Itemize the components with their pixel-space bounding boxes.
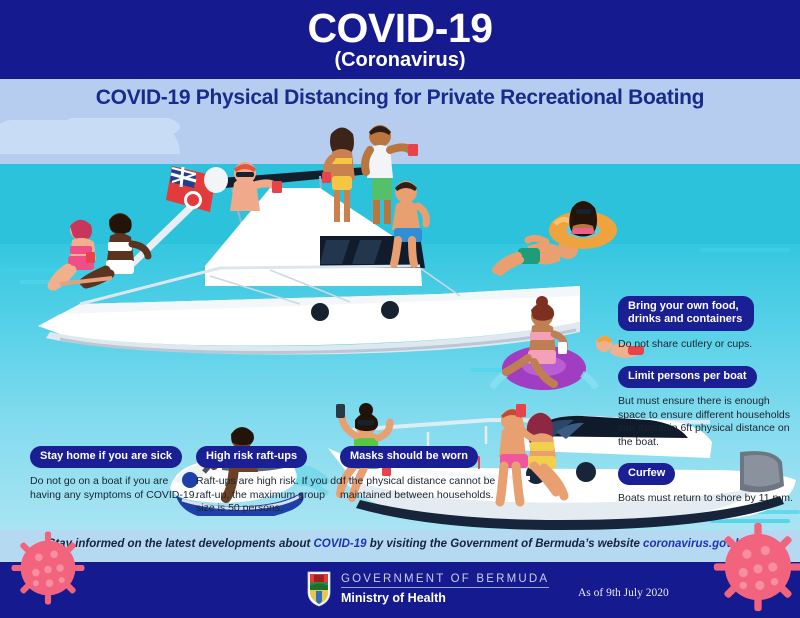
water-ripple bbox=[700, 248, 790, 252]
callout-curfew[interactable]: Curfew Boats must return to shore by 11 … bbox=[618, 463, 794, 506]
banner-bar: COVID-19 Physical Distancing for Private… bbox=[0, 79, 800, 118]
callout-body: But must ensure there is enough space to… bbox=[618, 395, 794, 449]
callout-label: Curfew bbox=[618, 463, 675, 485]
info-part2: by visiting the Government of Bermuda’s … bbox=[367, 538, 644, 550]
callout-high-risk-raft-ups[interactable]: High risk raft-ups Raft-ups are high ris… bbox=[196, 446, 346, 516]
person-skipper-icon bbox=[220, 159, 290, 219]
coronavirus-icon bbox=[712, 521, 800, 613]
poster-header: COVID-19 (Coronavirus) bbox=[0, 0, 800, 79]
bermuda-coat-of-arms-icon bbox=[306, 571, 332, 607]
government-text: GOVERNMENT OF BERMUDA Ministry of Health bbox=[341, 573, 549, 605]
illustration-scene: Bring your own food, drinks and containe… bbox=[0, 118, 800, 530]
page-title: COVID-19 bbox=[0, 6, 800, 50]
ministry-of-health-label: Ministry of Health bbox=[341, 591, 549, 605]
person-on-purple-float-icon bbox=[490, 294, 600, 394]
callout-body: Boats must return to shore by 11 p.m. bbox=[618, 492, 794, 506]
government-of-bermuda-label: GOVERNMENT OF BERMUDA bbox=[341, 573, 549, 588]
banner-title: COVID-19 Physical Distancing for Private… bbox=[0, 86, 800, 110]
info-strip-text: Stay informed on the latest developments… bbox=[0, 538, 800, 550]
callout-label: Stay home if you are sick bbox=[30, 446, 182, 468]
callout-label: High risk raft-ups bbox=[196, 446, 307, 468]
page-subtitle: (Coronavirus) bbox=[0, 49, 800, 71]
coronavirus-icon bbox=[10, 530, 86, 606]
callout-stay-home-if-you-are-sick[interactable]: Stay home if you are sick Do not go on a… bbox=[30, 446, 200, 502]
callout-label: Masks should be worn bbox=[340, 446, 478, 468]
info-highlight: COVID-19 bbox=[314, 538, 367, 550]
callout-body: If the physical distance cannot be maint… bbox=[340, 475, 500, 502]
government-branding: GOVERNMENT OF BERMUDA Ministry of Health bbox=[306, 571, 549, 607]
person-in-swim-ring-icon bbox=[545, 194, 625, 256]
infographic-poster: Bring your own food, drinks and containe… bbox=[0, 0, 800, 618]
person-lounging-group-icon bbox=[42, 212, 172, 292]
callout-body: Raft-ups are high risk. If you do raft-u… bbox=[196, 475, 346, 516]
callout-masks-should-be-worn[interactable]: Masks should be worn If the physical dis… bbox=[340, 446, 500, 502]
callout-limit-persons-per-boat[interactable]: Limit persons per boat But must ensure t… bbox=[618, 366, 794, 449]
callout-label: Bring your own food, drinks and containe… bbox=[618, 296, 754, 331]
person-sitting-edge-icon bbox=[378, 178, 448, 268]
callout-bring-your-own-food[interactable]: Bring your own food, drinks and containe… bbox=[618, 296, 794, 352]
info-strip: Stay informed on the latest developments… bbox=[0, 530, 800, 562]
callout-body: Do not share cutlery or cups. bbox=[618, 338, 794, 352]
callout-label: Limit persons per boat bbox=[618, 366, 757, 388]
callout-body: Do not go on a boat if you are having an… bbox=[30, 475, 200, 502]
poster-footer: GOVERNMENT OF BERMUDA Ministry of Health… bbox=[0, 562, 800, 618]
info-part1: Stay informed on the latest developments… bbox=[48, 538, 314, 550]
as-of-date: As of 9th July 2020 bbox=[578, 587, 669, 599]
